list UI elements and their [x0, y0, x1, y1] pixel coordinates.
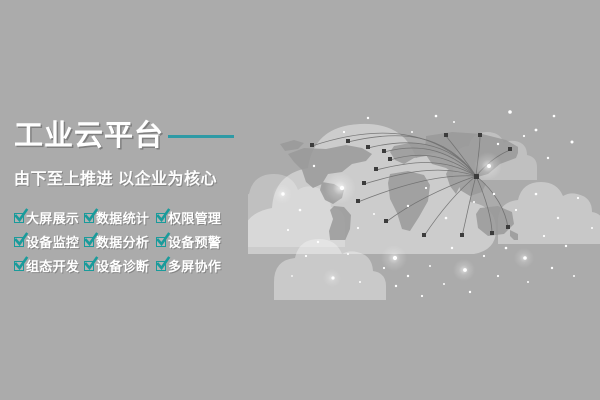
feature-label: 数据统计	[96, 208, 149, 227]
feature-label: 大屏展示	[26, 208, 79, 227]
feature-item-2[interactable]: 权限管理	[156, 208, 236, 227]
feature-item-6[interactable]: 组态开发	[14, 256, 84, 275]
feature-label: 组态开发	[26, 256, 79, 275]
feature-item-0[interactable]: 大屏展示	[14, 208, 84, 227]
cloud-world-network-illustration	[248, 70, 600, 310]
hero-subtitle: 由下至上推进 以企业为核心	[14, 165, 264, 189]
feature-item-1[interactable]: 数据统计	[84, 208, 156, 227]
title-row: 工业云平台	[14, 118, 264, 154]
feature-item-7[interactable]: 设备诊断	[84, 256, 156, 275]
feature-item-3[interactable]: 设备监控	[14, 232, 84, 251]
hero-text-block: 工业云平台 由下至上推进 以企业为核心 大屏展示 数据统计	[14, 118, 264, 275]
check-icon	[156, 237, 166, 247]
check-icon	[14, 213, 24, 223]
feature-item-8[interactable]: 多屏协作	[156, 256, 236, 275]
check-icon	[14, 261, 24, 271]
feature-label: 权限管理	[168, 208, 221, 227]
feature-list: 大屏展示 数据统计 权限管理 设备监控	[14, 208, 264, 275]
page-title: 工业云平台	[14, 122, 164, 151]
cloud-platform-banner: 工业云平台 由下至上推进 以企业为核心 大屏展示 数据统计	[0, 0, 600, 400]
check-icon	[84, 237, 94, 247]
check-icon	[84, 213, 94, 223]
feature-item-5[interactable]: 设备预警	[156, 232, 236, 251]
feature-label: 设备预警	[168, 232, 221, 251]
feature-item-4[interactable]: 数据分析	[84, 232, 156, 251]
feature-label: 多屏协作	[168, 256, 221, 275]
title-underline-rule	[168, 135, 234, 138]
feature-label: 设备诊断	[96, 256, 149, 275]
check-icon	[156, 213, 166, 223]
check-icon	[156, 261, 166, 271]
check-icon	[14, 237, 24, 247]
check-icon	[84, 261, 94, 271]
feature-label: 数据分析	[96, 232, 149, 251]
feature-label: 设备监控	[26, 232, 79, 251]
